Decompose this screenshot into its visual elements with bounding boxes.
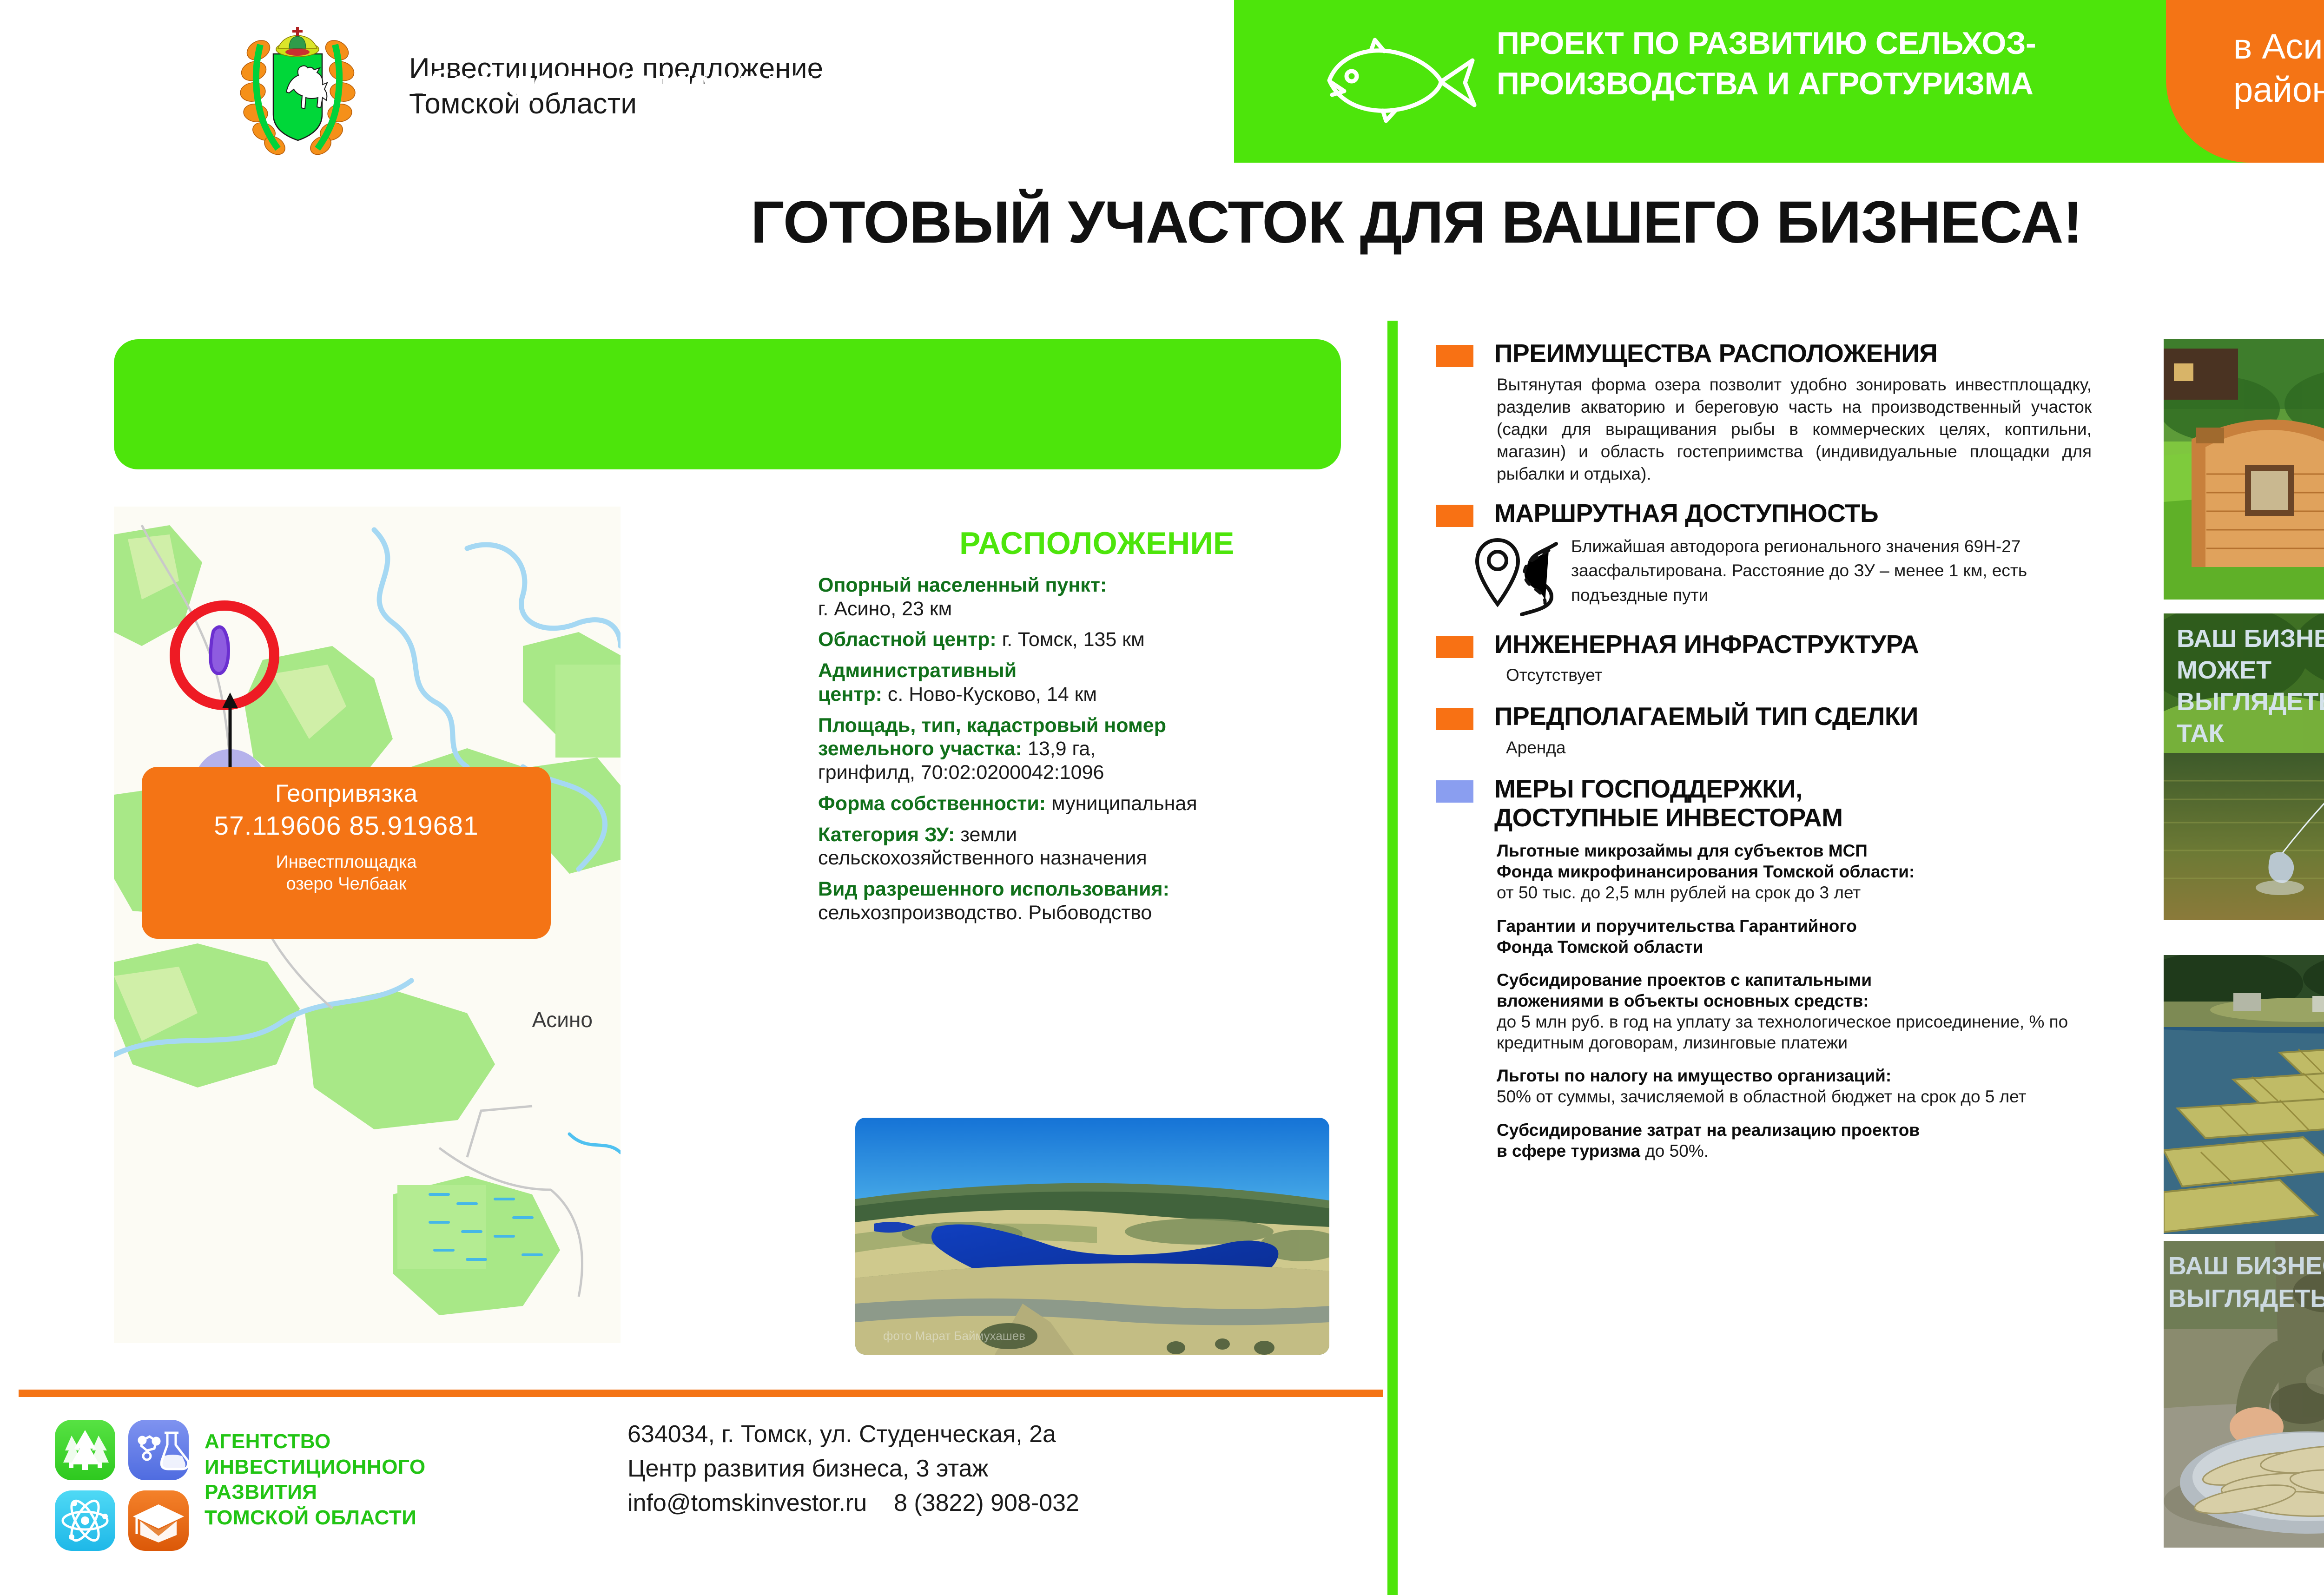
agency-line4: ТОМСКОЙ ОБЛАСТИ xyxy=(205,1505,426,1531)
info-column: ПРЕИМУЩЕСТВА РАСПОЛОЖЕНИЯ Вытянутая форм… xyxy=(1436,339,2133,1173)
geo-sub-line1: Инвестплощадка xyxy=(142,851,551,873)
photo-glamping-pods: ВАШ БИЗНЕС МОЖЕТ ВЫГЛЯДЕТЬ ТАК xyxy=(2164,339,2324,600)
label: Опорный населенный пункт: xyxy=(818,574,1107,596)
section-title: МЕРЫ ГОСПОДДЕРЖКИ, ДОСТУПНЫЕ ИНВЕСТОРАМ xyxy=(1494,775,1843,832)
support-bold-1: Льготы по налогу на имущество организаци… xyxy=(1497,1065,2124,1086)
value: сельхозпроизводство. Рыбоводство xyxy=(818,902,1152,924)
support-item: Субсидирование проектов с капитальными в… xyxy=(1497,969,2124,1054)
location-item-permitted-use: Вид разрешенного использования: сельхозп… xyxy=(818,877,1376,924)
agency-name: АГЕНТСТВО ИНВЕСТИЦИОННОГО РАЗВИТИЯ ТОМСК… xyxy=(205,1429,426,1530)
agency-line2: ИНВЕСТИЦИОННОГО xyxy=(205,1455,426,1480)
map-city-label: Асино xyxy=(532,1008,593,1032)
value2: гринфилд, 70:02:0200042:1096 xyxy=(818,761,1104,784)
aerial-watermark: фото Марат Баймухашев xyxy=(883,1329,1025,1343)
photo-caption-line2: МОЖЕТ xyxy=(2177,656,2271,684)
project-type-pill xyxy=(114,339,1341,469)
project-type-line2: рыбоводства / агротуризма xyxy=(0,61,1227,104)
location-details: РАСПОЛОЖЕНИЕ Опорный населенный пункт: г… xyxy=(818,525,1376,932)
label: Категория ЗУ: xyxy=(818,824,955,846)
support-inline: в сфере туризма до 50%. xyxy=(1497,1140,2124,1161)
geo-callout-coords: 57.119606 85.919681 xyxy=(142,807,551,845)
atom-icon xyxy=(55,1490,115,1551)
orange-square-bullet-icon xyxy=(1436,708,1473,730)
contact-email-phone: info@tomskinvestor.ru 8 (3822) 908-032 xyxy=(627,1486,1079,1521)
geo-sub-line2: озеро Челбаак xyxy=(142,873,551,895)
support-bold-1: Льготные микрозаймы для субъектов МСП xyxy=(1497,840,2124,861)
agency-logo xyxy=(55,1420,190,1552)
blue-square-bullet-icon xyxy=(1436,780,1473,803)
support-bold-1: Гарантии и поручительства Гарантийного xyxy=(1497,916,2124,936)
label: Областной центр: xyxy=(818,628,997,651)
project-type-line1: Строительство объектов xyxy=(0,19,1227,61)
support-bold-2: Фонда микрофинансирования Томской област… xyxy=(1497,861,2124,882)
support-normal: от 50 тыс. до 2,5 млн рублей на срок до … xyxy=(1497,882,2124,903)
location-item-regional-center: Областной центр: г. Томск, 135 км xyxy=(818,628,1376,652)
support-item: Льготы по налогу на имущество организаци… xyxy=(1497,1065,2124,1107)
label2: центр: xyxy=(818,683,882,705)
contact-info: 634034, г. Томск, ул. Студенческая, 2а Ц… xyxy=(627,1417,1079,1520)
agency-line3: РАЗВИТИЯ xyxy=(205,1480,426,1505)
email-link[interactable]: info@tomskinvestor.ru xyxy=(627,1490,867,1516)
orange-square-bullet-icon xyxy=(1436,345,1473,367)
region-line2: районе xyxy=(2233,69,2324,112)
support-normal: до 5 млн руб. в год на уплату за техноло… xyxy=(1497,1011,2124,1053)
location-item-ownership: Форма собственности: муниципальная xyxy=(818,792,1376,816)
section-deal-header: ПРЕДПОЛАГАЕМЫЙ ТИП СДЕЛКИ xyxy=(1436,702,2133,731)
photo-smoked-fish: ВАШ БИЗНЕС МОЖЕТ ВЫГЛЯДЕТЬ ТАК xyxy=(2164,1241,2324,1548)
photo-fish-cages: ВАШ БИЗНЕС МОЖЕТ ВЫГЛЯДЕТЬ ТАК xyxy=(2164,955,2324,1234)
value: г. Томск, 135 км xyxy=(997,628,1145,651)
location-item-area-cadastral: Площадь, тип, кадастровый номер земельно… xyxy=(818,714,1376,784)
label: Административный xyxy=(818,659,1017,682)
map-pin-road-icon xyxy=(1473,534,1562,618)
forest-icon xyxy=(55,1420,115,1480)
photo-caption-line1: ВАШ БИЗНЕС МОЖЕТ xyxy=(2168,1252,2324,1280)
label: Форма собственности: xyxy=(818,792,1046,815)
region-label: в Асиновском районе xyxy=(2233,26,2324,112)
aerial-site-photo: фото Марат Баймухашев xyxy=(855,1118,1329,1355)
photo-caption-line2: ВЫГЛЯДЕТЬ ТАК xyxy=(2168,1285,2324,1312)
geo-callout: Геопривязка 57.119606 85.919681 Инвестпл… xyxy=(142,767,551,939)
vertical-divider xyxy=(1387,321,1398,1595)
support-normal: 50% от суммы, зачисляемой в областной бю… xyxy=(1497,1086,2124,1107)
graduation-cap-icon xyxy=(128,1490,189,1551)
label: Площадь, тип, кадастровый номер xyxy=(818,714,1166,737)
address-line2: Центр развития бизнеса, 3 этаж xyxy=(627,1452,1079,1486)
value: г. Асино, 23 км xyxy=(818,598,952,620)
section-advantages-header: ПРЕИМУЩЕСТВА РАСПОЛОЖЕНИЯ xyxy=(1436,339,2133,368)
support-bold-1: Субсидирование проектов с капитальными xyxy=(1497,969,2124,990)
molecule-flask-icon xyxy=(128,1420,189,1480)
section-title: ИНЖЕНЕРНАЯ ИНФРАСТРУКТУРА xyxy=(1494,630,1919,659)
location-item-settlement: Опорный населенный пункт: г. Асино, 23 к… xyxy=(818,573,1376,620)
section-infrastructure-header: ИНЖЕНЕРНАЯ ИНФРАСТРУКТУРА xyxy=(1436,630,2133,659)
label: Вид разрешенного использования: xyxy=(818,878,1169,900)
support-title-line1: МЕРЫ ГОСПОДДЕРЖКИ, xyxy=(1494,775,1843,804)
section-deal-body: Аренда xyxy=(1506,737,2101,759)
agency-line1: АГЕНТСТВО xyxy=(205,1429,426,1455)
photo-children-fishing: ВАШ БИЗНЕС МОЖЕТ ВЫГЛЯДЕТЬ ТАК xyxy=(2164,613,2324,920)
section-advantages-body: Вытянутая форма озера позволит удобно зо… xyxy=(1497,374,2092,485)
value: с. Ново-Кусково, 14 км xyxy=(882,683,1097,705)
banner-line2: ПРОИЗВОДСТВА И АГРОТУРИЗМА xyxy=(1497,64,2157,104)
fish-icon xyxy=(1301,36,1487,125)
orange-square-bullet-icon xyxy=(1436,636,1473,658)
support-title-line2: ДОСТУПНЫЕ ИНВЕСТОРАМ xyxy=(1494,804,1843,832)
project-type-text: Строительство объектов рыбоводства / агр… xyxy=(0,19,1227,104)
region-line1: в Асиновском xyxy=(2233,26,2324,69)
support-bold-2: в сфере туризма xyxy=(1497,1141,1640,1160)
footer-divider xyxy=(19,1390,1383,1397)
section-route-body: Ближайшая автодорога регионального значе… xyxy=(1473,534,2133,618)
support-bold-2: Фонда Томской области xyxy=(1497,936,2124,957)
support-bold-1: Субсидирование затрат на реализацию прое… xyxy=(1497,1120,2124,1140)
support-measures-list: Льготные микрозаймы для субъектов МСП Фо… xyxy=(1497,840,2124,1161)
banner-line1: ПРОЕКТ ПО РАЗВИТИЮ СЕЛЬХОЗ- xyxy=(1497,26,2036,61)
photo-caption-line3: ВЫГЛЯДЕТЬ xyxy=(2177,688,2324,716)
orange-square-bullet-icon xyxy=(1436,505,1473,527)
project-banner-text: ПРОЕКТ ПО РАЗВИТИЮ СЕЛЬХОЗ- ПРОИЗВОДСТВА… xyxy=(1497,23,2157,104)
support-item: Гарантии и поручительства Гарантийного Ф… xyxy=(1497,916,2124,957)
address-line1: 634034, г. Томск, ул. Студенческая, 2а xyxy=(627,1417,1079,1452)
poster-root: Инвестиционное предложение Томской облас… xyxy=(0,0,2324,1595)
location-heading: РАСПОЛОЖЕНИЕ xyxy=(818,525,1376,561)
geo-callout-subtitle: Инвестплощадка озеро Челбаак xyxy=(142,851,551,895)
section-title: ПРЕДПОЛАГАЕМЫЙ ТИП СДЕЛКИ xyxy=(1494,702,1918,731)
label2: земельного участка: xyxy=(818,738,1022,760)
section-title: ПРЕИМУЩЕСТВА РАСПОЛОЖЕНИЯ xyxy=(1494,339,1937,368)
photo-caption-line4: ТАК xyxy=(2177,719,2225,747)
value: 13,9 га, xyxy=(1022,738,1096,760)
photo-caption-line1: ВАШ БИЗНЕС xyxy=(2177,625,2324,652)
route-text: Ближайшая автодорога регионального значе… xyxy=(1571,534,2078,608)
phone-number[interactable]: 8 (3822) 908-032 xyxy=(894,1490,1079,1516)
geo-callout-title: Геопривязка xyxy=(142,781,551,807)
value2: сельскохозяйственного назначения xyxy=(818,847,1147,869)
value: муниципальная xyxy=(1046,792,1197,815)
section-infrastructure-body: Отсутствует xyxy=(1506,664,2101,686)
section-title: МАРШРУТНАЯ ДОСТУПНОСТЬ xyxy=(1494,499,1878,528)
value: земли xyxy=(955,824,1017,846)
location-item-land-category: Категория ЗУ: земли сельскохозяйственног… xyxy=(818,823,1376,870)
support-item: Субсидирование затрат на реализацию прое… xyxy=(1497,1120,2124,1161)
section-support-header: МЕРЫ ГОСПОДДЕРЖКИ, ДОСТУПНЫЕ ИНВЕСТОРАМ xyxy=(1436,775,2133,832)
section-route-header: МАРШРУТНАЯ ДОСТУПНОСТЬ xyxy=(1436,499,2133,528)
support-bold-2: вложениями в объекты основных средств: xyxy=(1497,990,2124,1011)
support-normal: до 50%. xyxy=(1640,1141,1709,1160)
support-item: Льготные микрозаймы для субъектов МСП Фо… xyxy=(1497,840,2124,903)
page-title: ГОТОВЫЙ УЧАСТОК ДЛЯ ВАШЕГО БИЗНЕСА! xyxy=(0,188,2324,257)
location-item-admin-center: Административный центр: с. Ново-Кусково,… xyxy=(818,659,1376,706)
